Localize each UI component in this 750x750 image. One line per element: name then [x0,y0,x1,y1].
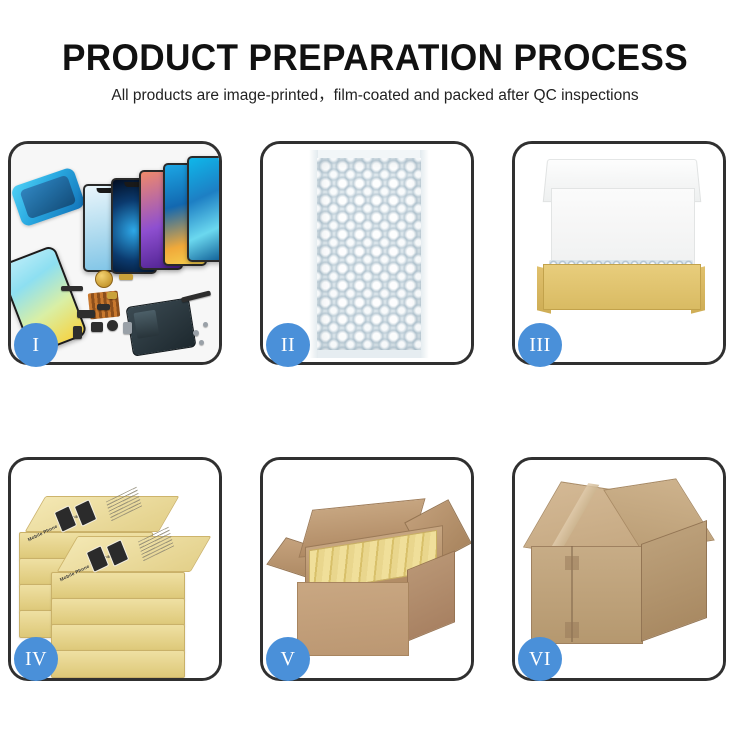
stacked-box-icon [51,650,185,678]
small-part-icon [77,310,95,318]
gold-bracket-icon [107,292,117,299]
page-header: PRODUCT PREPARATION PROCESS All products… [0,0,750,125]
box-lid-panel-icon [551,188,695,268]
antenna-flex-icon [97,304,110,310]
carton-tab-icon [565,556,579,570]
vibrator-icon [107,320,118,331]
sim-tray-icon [73,326,82,339]
tweezers-icon [181,290,211,302]
flex-cable-icon [61,286,83,291]
carton-tab-icon [565,622,579,638]
box-stack-icon: Mobile Phone Spare Parts Mobile Phone Sp… [15,476,217,664]
adhesive-sheet-icon [10,166,86,227]
bubble-field-icon [317,158,421,350]
gold-connector-icon [119,274,133,280]
page-subtitle: All products are image-printed，film-coat… [0,86,750,106]
speaker-coil-icon [95,270,113,288]
stacked-box-icon [51,624,185,652]
wrap-edge-right-icon [420,150,429,358]
kraft-box-body-icon [543,264,701,310]
step-badge-5: V [266,637,310,681]
battery-connector-icon [123,322,132,334]
screw-icon [193,330,199,336]
carton-front-icon [531,546,643,644]
step-badge-2: II [266,323,310,367]
screw-icon [199,340,204,345]
screw-icon [203,322,208,327]
step-badge-6: VI [518,637,562,681]
step-badge-3: III [518,323,562,367]
carton-front-icon [297,582,409,656]
page-title: PRODUCT PREPARATION PROCESS [19,38,732,78]
process-step-grid: Mobile Phone Spare Parts Mobile Phone Sp… [8,141,742,681]
step-badge-1: I [14,323,58,367]
camera-module-icon [91,322,103,332]
screen-panel-5-icon [187,156,222,262]
logic-board-icon [125,297,196,356]
stacked-box-icon [51,598,185,626]
step-badge-4: IV [14,637,58,681]
